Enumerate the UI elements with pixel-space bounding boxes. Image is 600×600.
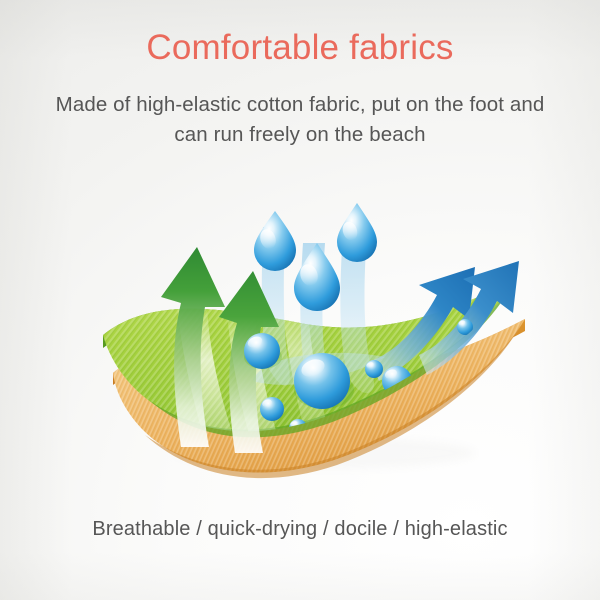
subtitle-line-1: Made of high-elastic cotton fabric, put …: [56, 93, 545, 116]
rising-droplet-3: [294, 243, 340, 311]
product-feature-poster: Comfortable fabrics Made of high-elastic…: [0, 0, 600, 600]
rising-droplet-1: [254, 211, 296, 271]
page-title: Comfortable fabrics: [0, 26, 600, 70]
breathable-fabric-illustration: [85, 185, 535, 490]
feature-caption: Breathable / quick-drying / docile / hig…: [0, 515, 600, 543]
page-subtitle: Made of high-elastic cotton fabric, put …: [30, 90, 570, 150]
surface-droplet-4: [365, 360, 383, 378]
subtitle-line-2: can run freely on the beach: [174, 123, 425, 146]
rising-droplet-2: [337, 203, 377, 262]
surface-droplet-2: [260, 397, 284, 421]
